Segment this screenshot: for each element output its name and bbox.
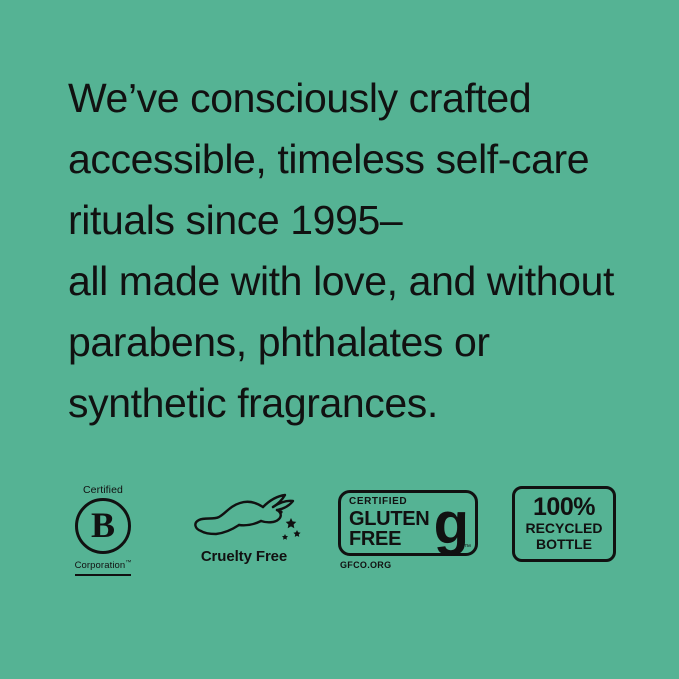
b-corp-trademark: ™ <box>125 560 131 566</box>
gluten-free-line1: GLUTEN <box>349 509 429 529</box>
recycled-bottle-box: 100% RECYCLED BOTTLE <box>512 486 616 562</box>
page-headline: We’ve consciously crafted accessible, ti… <box>68 68 658 434</box>
recycled-bottle-percent: 100% <box>519 494 609 520</box>
certification-badges: Certified B Corporation™ <box>62 484 622 594</box>
gluten-free-text-column: CERTIFIED GLUTEN FREE <box>349 497 429 549</box>
cruelty-free-label: Cruelty Free <box>184 548 304 565</box>
b-corp-corporation-label: Corporation™ <box>75 557 132 576</box>
gluten-free-box: CERTIFIED GLUTEN FREE g ™ <box>338 490 478 556</box>
badge-gluten-free: CERTIFIED GLUTEN FREE g ™ GFCO.ORG <box>338 484 478 570</box>
b-corp-letter: B <box>91 507 115 543</box>
badge-b-corporation: Certified B Corporation™ <box>62 484 144 576</box>
gluten-free-line2: FREE <box>349 529 429 549</box>
b-corp-corporation-text: Corporation <box>75 560 126 571</box>
recycled-bottle-line2: BOTTLE <box>519 536 609 552</box>
b-corp-circle-icon: B <box>75 498 131 554</box>
badge-recycled-bottle: 100% RECYCLED BOTTLE <box>512 484 616 562</box>
gluten-free-trademark: ™ <box>464 544 471 551</box>
gluten-free-certified-label: CERTIFIED <box>349 497 429 507</box>
b-corp-certified-label: Certified <box>62 484 144 496</box>
gluten-free-url: GFCO.ORG <box>338 560 478 570</box>
leaping-bunny-icon <box>185 490 303 546</box>
badge-cruelty-free: Cruelty Free <box>184 484 304 565</box>
recycled-bottle-line1: RECYCLED <box>519 520 609 536</box>
promo-panel: We’ve consciously crafted accessible, ti… <box>0 0 679 679</box>
